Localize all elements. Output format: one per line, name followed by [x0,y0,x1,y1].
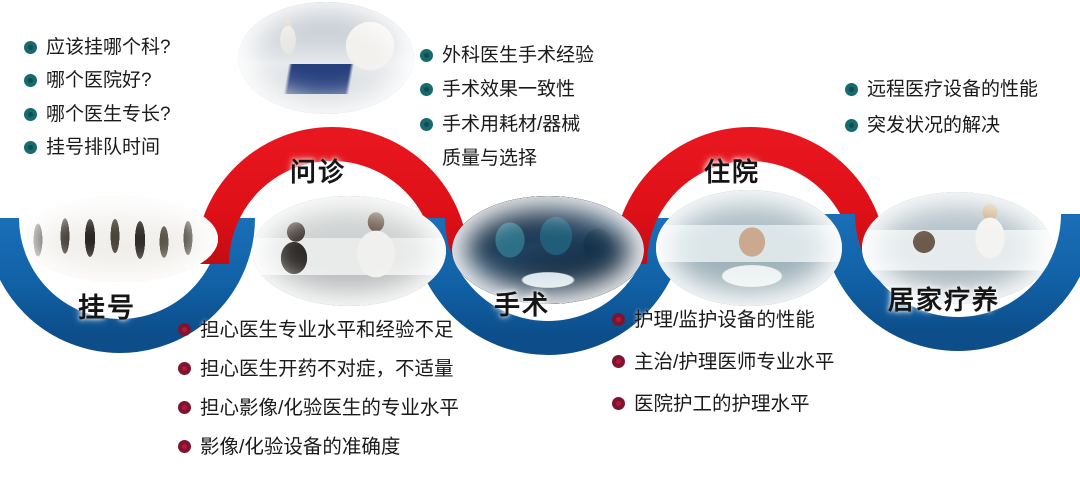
ct-scanner-photo [238,2,414,114]
list-item-label: 影像/化验设备的准确度 [200,435,400,460]
stage-label-inpatient: 住院 [704,152,760,189]
list-item-label: 手术效果一致性 [442,78,575,102]
list-item-label: 担心影像/化验医生的专业水平 [200,396,459,421]
bullet-ring-icon [24,141,37,154]
bullet-ring-icon [845,83,858,96]
list-item: 哪个医生专长? [24,103,171,127]
list-item: 医院护工的护理水平 [612,392,834,417]
list-item-label: 担心医生专业水平和经验不足 [200,318,454,343]
stage-label-registration: 挂号 [78,286,136,325]
bullet-ring-icon [178,440,191,453]
crowd-walking-photo [22,196,218,282]
list-item-label: 哪个医生专长? [46,103,171,127]
stage-label-consultation: 问诊 [290,152,346,189]
list-item-label: 质量与选择 [442,147,537,171]
bullet-ring-icon [612,397,625,410]
bullet-ring-icon [178,323,191,336]
bullet-ring-icon [24,41,37,54]
bullet-ring-icon [612,355,625,368]
list-item: 影像/化验设备的准确度 [178,435,459,460]
list-registration-concerns: 应该挂哪个科? 哪个医院好? 哪个医生专长? 挂号排队时间 [24,36,171,169]
stage-label-surgery: 手术 [494,285,550,322]
bullet-ring-icon [178,401,191,414]
list-item-label: 应该挂哪个科? [46,36,171,60]
list-homecare-concerns: 远程医疗设备的性能 突发状况的解决 [845,78,1038,151]
list-item: 担心影像/化验医生的专业水平 [178,396,459,421]
list-item-label: 医院护工的护理水平 [634,392,810,417]
list-item-label: 主治/护理医师专业水平 [634,350,834,375]
list-item: 哪个医院好? [24,69,171,93]
list-item: 手术效果一致性 [420,78,594,102]
list-item: 护理/监护设备的性能 [612,308,834,333]
list-item: 挂号排队时间 [24,136,171,160]
list-item-label: 护理/监护设备的性能 [634,308,815,333]
list-item-continuation: 质量与选择 [420,147,594,171]
stage-label-homecare: 居家疗养 [888,280,1000,317]
list-consultation-concerns: 担心医生专业水平和经验不足 担心医生开药不对症，不适量 担心影像/化验医生的专业… [178,318,459,474]
list-item: 担心医生开药不对症，不适量 [178,357,459,382]
list-item-label: 突发状况的解决 [867,114,1000,138]
list-item: 突发状况的解决 [845,114,1038,138]
list-item-label: 担心医生开药不对症，不适量 [200,357,454,382]
list-item: 应该挂哪个科? [24,36,171,60]
bullet-ring-icon [24,108,37,121]
list-item-label: 哪个医院好? [46,69,152,93]
list-item: 担心医生专业水平和经验不足 [178,318,459,343]
bullet-ring-icon [612,313,625,326]
list-item: 远程医疗设备的性能 [845,78,1038,102]
bullet-ring-icon [420,49,433,62]
list-item-label: 外科医生手术经验 [442,44,594,68]
list-inpatient-concerns: 护理/监护设备的性能 主治/护理医师专业水平 医院护工的护理水平 [612,308,834,434]
infographic-canvas: 挂号 问诊 手术 住院 居家疗养 应该挂哪个科? 哪个医院好? 哪个医生专长? … [0,0,1080,482]
icu-bed-photo [656,190,842,306]
list-item: 主治/护理医师专业水平 [612,350,834,375]
list-item: 外科医生手术经验 [420,44,594,68]
bullet-ring-icon [845,119,858,132]
list-item-label: 远程医疗设备的性能 [867,78,1038,102]
list-item: 手术用耗材/器械 [420,113,594,137]
bullet-ring-icon [420,118,433,131]
bullet-ring-icon [24,74,37,87]
list-item-label: 挂号排队时间 [46,136,160,160]
list-item-label: 手术用耗材/器械 [442,113,580,137]
bullet-ring-icon [420,83,433,96]
bullet-ring-icon [178,362,191,375]
doctor-consult-photo [252,196,446,306]
list-surgery-concerns: 外科医生手术经验 手术效果一致性 手术用耗材/器械 质量与选择 [420,44,594,181]
